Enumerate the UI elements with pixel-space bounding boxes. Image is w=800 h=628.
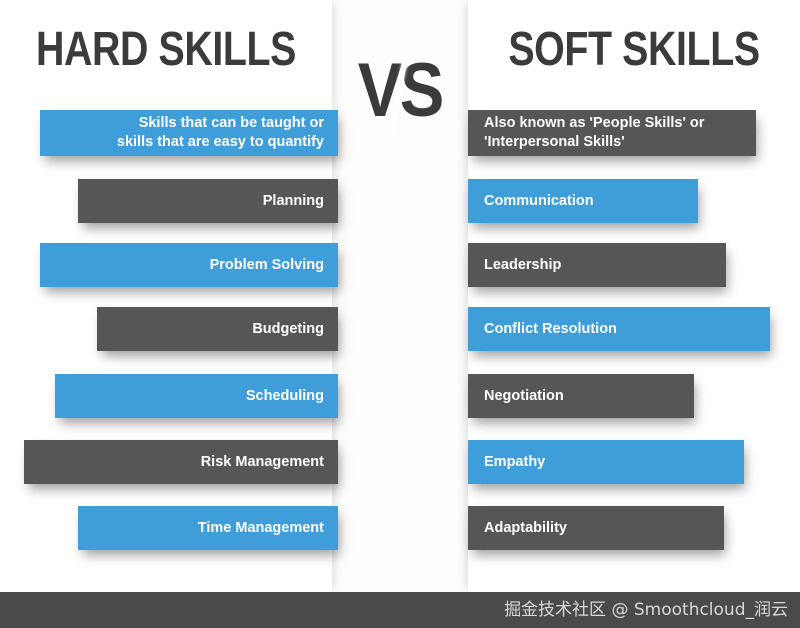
left-panel-background (0, 0, 332, 592)
right-bar-5: Empathy (468, 440, 744, 484)
right-panel-background (468, 0, 800, 592)
right-intro-bar: Also known as 'People Skills' or 'Interp… (468, 110, 756, 156)
bar-label: Time Management (198, 519, 324, 538)
left-bar-3: Budgeting (97, 307, 338, 351)
bar-label: Empathy (484, 453, 545, 472)
bar-label: Leadership (484, 256, 561, 275)
bar-label: Conflict Resolution (484, 320, 617, 339)
bar-label: Negotiation (484, 387, 564, 406)
bar-label: Problem Solving (210, 256, 324, 275)
bar-label: Planning (263, 192, 324, 211)
bar-label: Also known as 'People Skills' or 'Interp… (484, 114, 704, 152)
right-bar-2: Leadership (468, 243, 726, 287)
right-bar-3: Conflict Resolution (468, 307, 770, 351)
right-bar-1: Communication (468, 179, 698, 223)
bar-label: Risk Management (201, 453, 324, 472)
right-bar-4: Negotiation (468, 374, 694, 418)
left-bar-5: Risk Management (24, 440, 338, 484)
vs-badge: VS (332, 48, 468, 138)
left-column-heading: HARD SKILLS (30, 22, 302, 77)
bar-label: Adaptability (484, 519, 567, 538)
right-column-heading: SOFT SKILLS (498, 22, 770, 77)
footer-watermark-bar: 掘金技术社区 @ Smoothcloud_润云 (0, 592, 800, 628)
left-bar-4: Scheduling (55, 374, 338, 418)
infographic-canvas: HARD SKILLS SOFT SKILLS VS Skills that c… (0, 0, 800, 628)
bar-label: Communication (484, 192, 594, 211)
bar-label: Budgeting (252, 320, 324, 339)
left-intro-bar: Skills that can be taught or skills that… (40, 110, 338, 156)
left-bar-6: Time Management (78, 506, 338, 550)
left-bar-1: Planning (78, 179, 338, 223)
watermark-text: 掘金技术社区 @ Smoothcloud_润云 (504, 592, 788, 628)
left-bar-2: Problem Solving (40, 243, 338, 287)
bar-label: Skills that can be taught or skills that… (117, 114, 324, 152)
right-bar-6: Adaptability (468, 506, 724, 550)
bar-label: Scheduling (246, 387, 324, 406)
